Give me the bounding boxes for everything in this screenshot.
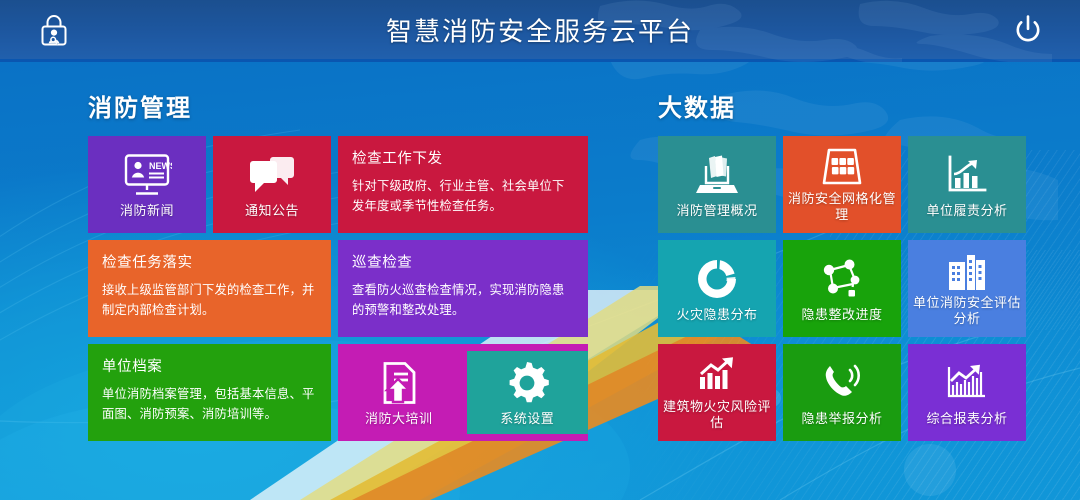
- tile-unit-archive[interactable]: 单位档案 单位消防档案管理，包括基本信息、平面图、消防预案、消防培训等。: [88, 344, 331, 441]
- tile-summary-report[interactable]: 综合报表分析: [908, 344, 1026, 441]
- buildings-icon: [944, 249, 990, 293]
- tile-fire-training[interactable]: 消防大培训: [338, 351, 460, 434]
- tile-label: 单位履责分析: [926, 203, 1007, 218]
- tile-description: 查看防火巡查检查情况，实现消防隐患的预警和整改处理。: [352, 281, 574, 321]
- power-icon[interactable]: [1008, 10, 1048, 50]
- tile-hazard-distribute[interactable]: 火灾隐患分布: [658, 240, 776, 337]
- news-monitor-icon: NEWS: [122, 149, 172, 201]
- tile-title: 巡查检查: [352, 251, 574, 272]
- network-nodes-icon: [819, 253, 865, 305]
- tile-grid-fire-management: NEWS 消防新闻 通知公告: [88, 136, 588, 441]
- tile-description: 针对下级政府、行业主管、社会单位下发年度或季节性检查任务。: [352, 177, 574, 217]
- panel-title-big-data: 大数据: [658, 88, 1026, 123]
- tile-inspection-task[interactable]: 检查任务落实 接收上级监管部门下发的检查工作，并制定内部检查计划。: [88, 240, 331, 337]
- chat-bubbles-icon: [247, 149, 297, 201]
- tile-report-analysis[interactable]: 隐患举报分析: [783, 344, 901, 441]
- tile-system-settings[interactable]: 系统设置: [467, 351, 589, 434]
- tile-label: 建筑物火灾风险评估: [662, 399, 772, 429]
- tile-label: 消防新闻: [120, 203, 174, 218]
- line-bar-chart-icon: [944, 357, 990, 409]
- tile-description: 单位消防档案管理，包括基本信息、平面图、消防预案、消防培训等。: [102, 385, 317, 425]
- tile-label: 消防安全网格化管理: [787, 191, 897, 221]
- tile-label: 通知公告: [245, 203, 299, 218]
- tile-label: 隐患整改进度: [801, 307, 882, 322]
- tile-inspection-issue[interactable]: 检查工作下发 针对下级政府、行业主管、社会单位下发年度或季节性检查任务。: [338, 136, 588, 233]
- tile-label: 综合报表分析: [926, 411, 1007, 426]
- tile-description: 接收上级监管部门下发的检查工作，并制定内部检查计划。: [102, 281, 317, 321]
- tile-notice-announce[interactable]: 通知公告: [213, 136, 331, 233]
- panel-title-fire-management: 消防管理: [88, 88, 588, 123]
- tile-label: 隐患举报分析: [801, 411, 882, 426]
- tile-building-risk[interactable]: 建筑物火灾风险评估: [658, 344, 776, 441]
- tile-grid-management[interactable]: 消防安全网格化管理: [783, 136, 901, 233]
- page-title: 智慧消防安全服务云平台: [0, 11, 1080, 48]
- svg-text:NEWS: NEWS: [149, 161, 172, 171]
- panel-fire-management: 消防管理 NEWS: [88, 88, 588, 441]
- tile-title: 检查任务落实: [102, 251, 317, 272]
- tile-pair-wrapper: 消防大培训 系统设置: [338, 344, 588, 441]
- dashboard-content: 消防管理 NEWS: [0, 62, 1080, 500]
- tile-grid-big-data: 消防管理概况: [658, 136, 1026, 441]
- laptop-books-icon: [694, 149, 740, 201]
- phone-ring-icon: [819, 357, 865, 409]
- tile-safety-assessment[interactable]: 单位消防安全评估分析: [908, 240, 1026, 337]
- tile-label: 消防大培训: [365, 411, 433, 426]
- app-header: 智慧消防安全服务云平台: [0, 0, 1080, 62]
- tile-label: 消防管理概况: [676, 203, 757, 218]
- donut-chart-icon: [694, 253, 740, 305]
- tile-fire-mgmt-overview[interactable]: 消防管理概况: [658, 136, 776, 233]
- tile-patrol-inspect[interactable]: 巡查检查 查看防火巡查检查情况，实现消防隐患的预警和整改处理。: [338, 240, 588, 337]
- tile-title: 单位档案: [102, 355, 317, 376]
- tile-duty-analysis[interactable]: 单位履责分析: [908, 136, 1026, 233]
- bar-arrow-icon: [945, 149, 989, 201]
- tile-rectify-progress[interactable]: 隐患整改进度: [783, 240, 901, 337]
- gear-icon: [504, 357, 550, 409]
- document-upload-icon: [375, 357, 423, 409]
- chart-arrow-up-icon: [695, 353, 739, 397]
- tile-label: 系统设置: [500, 411, 554, 426]
- app-root: 智慧消防安全服务云平台 消防管理: [0, 0, 1080, 500]
- tile-label: 火灾隐患分布: [676, 307, 757, 322]
- panel-big-data: 大数据: [658, 88, 1026, 441]
- tile-title: 检查工作下发: [352, 147, 574, 168]
- tile-label: 单位消防安全评估分析: [912, 295, 1022, 325]
- tile-fire-news[interactable]: NEWS 消防新闻: [88, 136, 206, 233]
- grid-panel-icon: [820, 145, 864, 189]
